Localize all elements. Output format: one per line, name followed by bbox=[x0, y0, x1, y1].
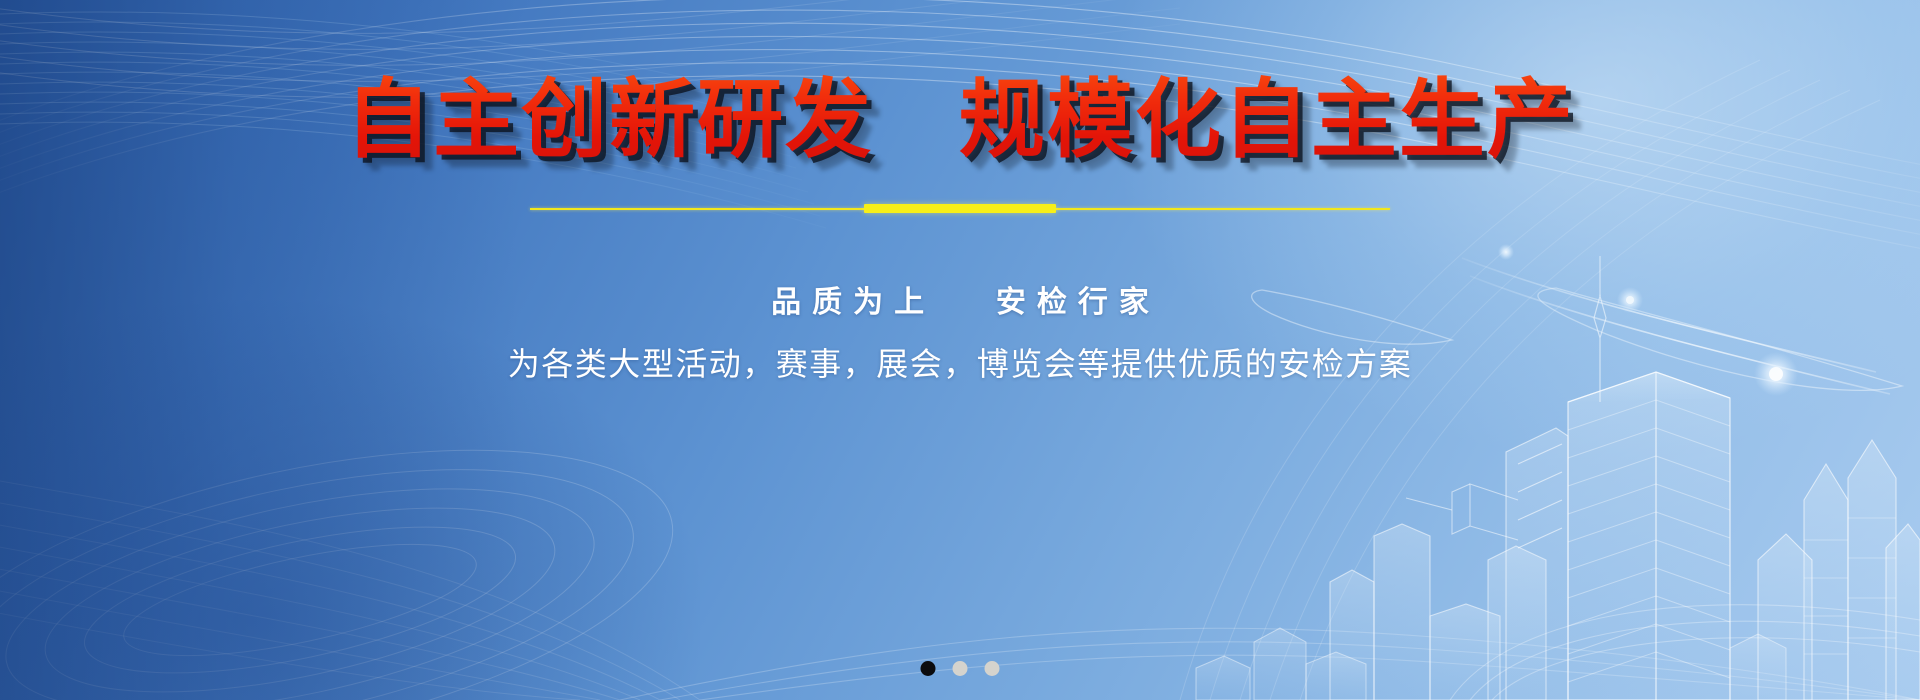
banner-content: 自主创新研发 规模化自主生产 品质为上 安检行家 为各类大型活动，赛事，展会，博… bbox=[0, 0, 1920, 385]
headline-part-2: 规模化自主生产 bbox=[959, 72, 1575, 168]
headline-part-1: 自主创新研发 bbox=[345, 72, 873, 168]
carousel-dot-2[interactable] bbox=[953, 661, 968, 676]
carousel-dots[interactable] bbox=[921, 661, 1000, 676]
banner-slogan: 品质为上 安检行家 bbox=[0, 277, 1920, 321]
banner-description: 为各类大型活动，赛事，展会，博览会等提供优质的安检方案 bbox=[0, 339, 1920, 385]
carousel-dot-3[interactable] bbox=[985, 661, 1000, 676]
yellow-divider bbox=[530, 203, 1390, 215]
slogan-secondary-text: 安检行家 bbox=[996, 286, 1160, 319]
carousel-dot-1[interactable] bbox=[921, 661, 936, 676]
hero-banner: 自主创新研发 规模化自主生产 品质为上 安检行家 为各类大型活动，赛事，展会，博… bbox=[0, 0, 1920, 700]
slogan-primary-text: 品质为上 bbox=[771, 286, 935, 319]
banner-headline: 自主创新研发 规模化自主生产 bbox=[0, 0, 1920, 167]
divider-thick-segment bbox=[864, 204, 1056, 213]
